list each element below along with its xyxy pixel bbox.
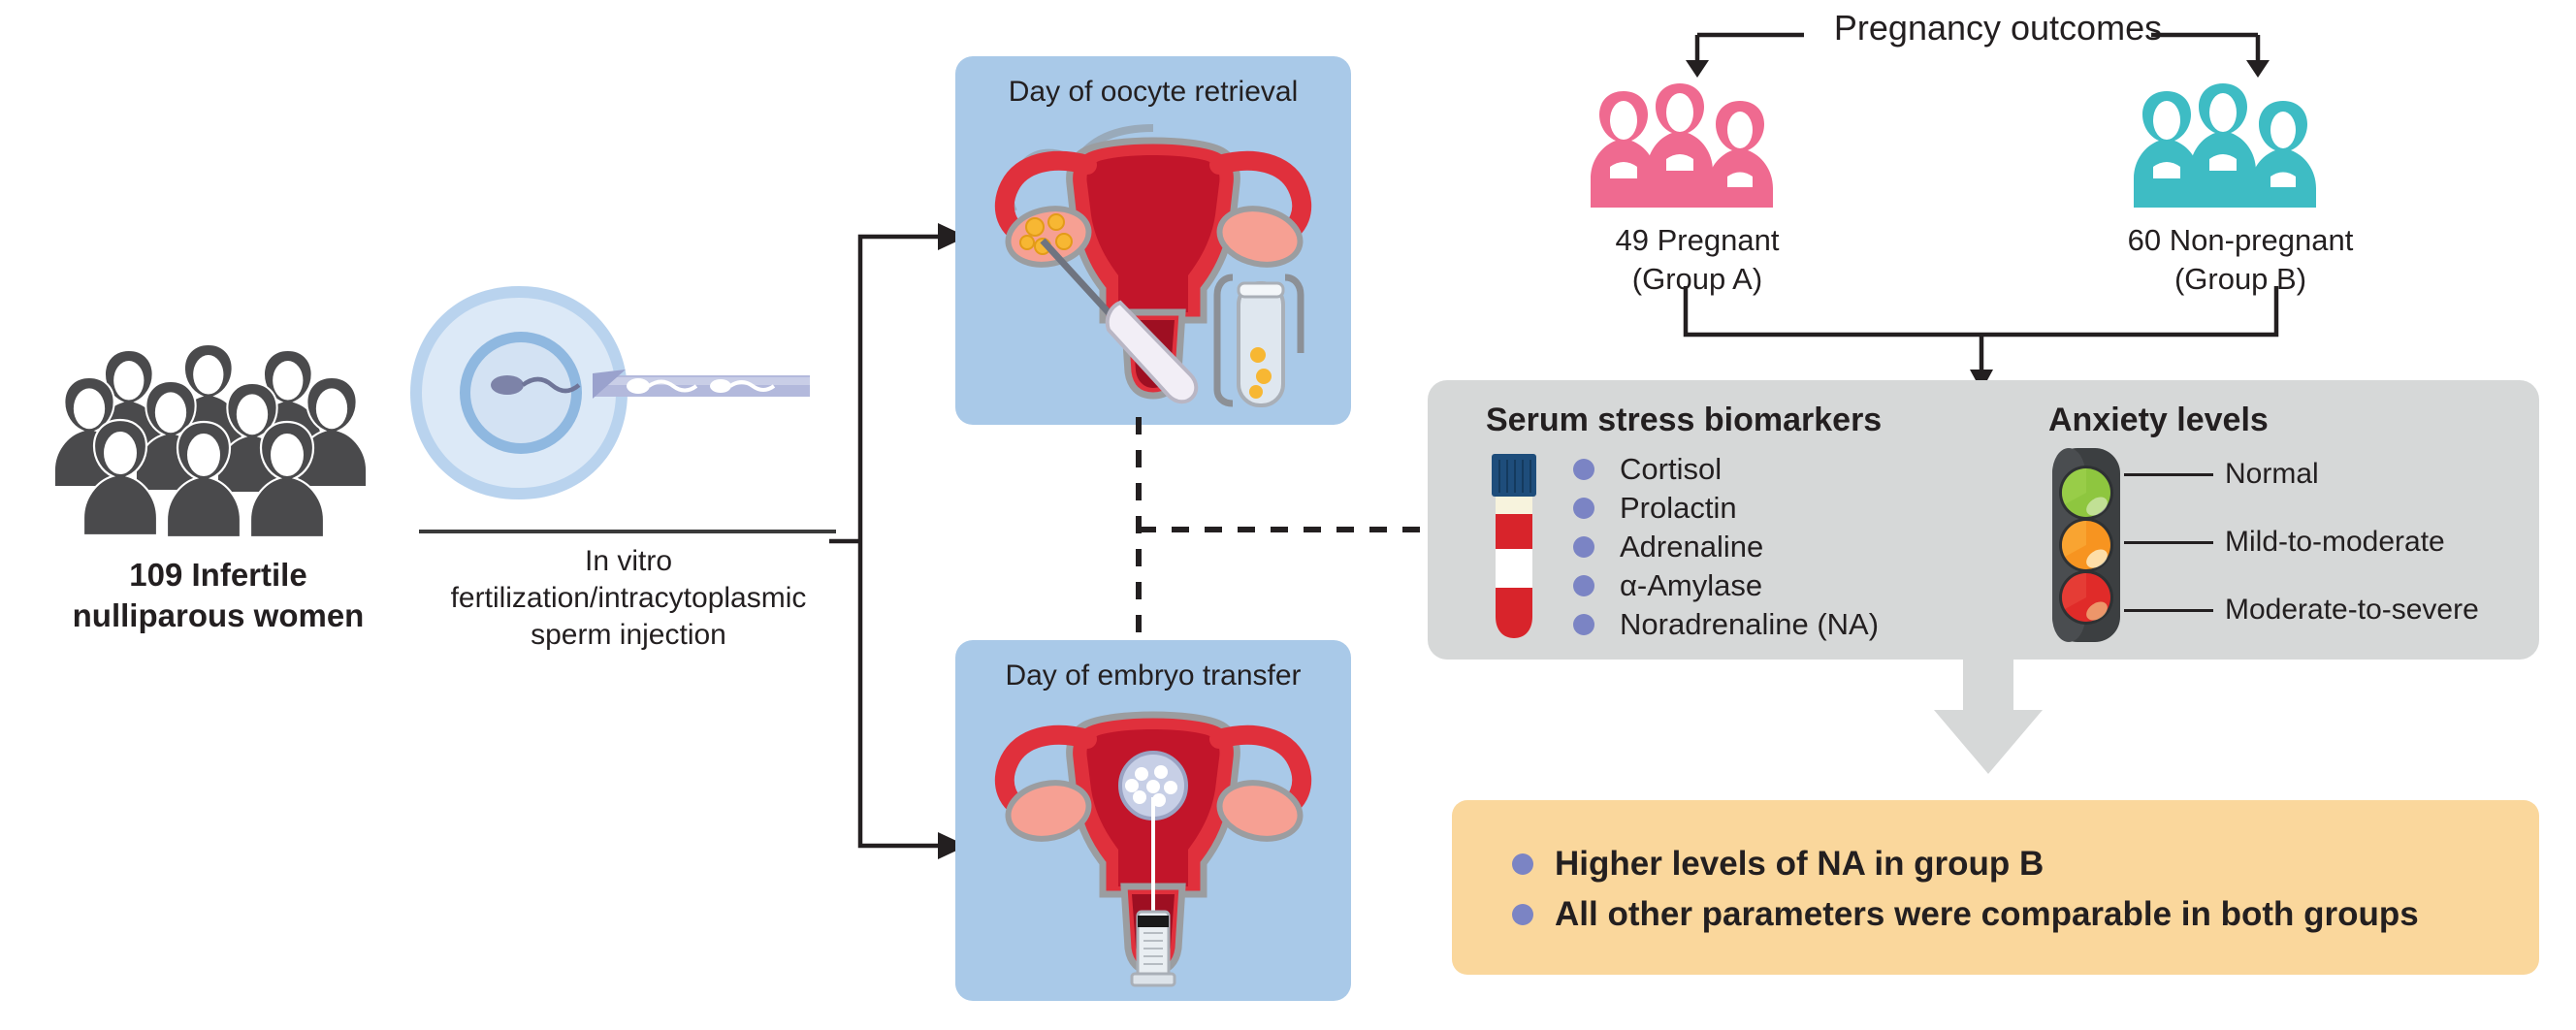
- bullet-dot-icon: [1573, 614, 1594, 635]
- measurements-panel: Serum stress biomarkers Cortisol: [1428, 380, 2539, 660]
- anxiety-label: Normal: [2225, 458, 2319, 491]
- bullet-dot-icon: [1573, 575, 1594, 596]
- group-a-line1: 49 Pregnant: [1552, 221, 1843, 260]
- bullet-dot-icon: [1512, 904, 1533, 925]
- groups-merge-arrow: [1547, 286, 2381, 393]
- ivf-icsi-label: In vitro fertilization/intracytoplasmic …: [405, 543, 852, 653]
- dashed-connector: [1106, 417, 1445, 650]
- panel-oocyte-title: Day of oocyte retrieval: [955, 76, 1351, 109]
- list-item: Prolactin: [1573, 489, 2000, 528]
- panel-oocyte-retrieval: Day of oocyte retrieval: [955, 56, 1351, 425]
- biomarker-label: Prolactin: [1620, 491, 1737, 526]
- results-down-arrow-icon: [1930, 652, 2046, 776]
- bullet-dot-icon: [1573, 536, 1594, 558]
- biomarkers-heading: Serum stress biomarkers: [1486, 402, 1882, 439]
- biomarker-label: Noradrenaline (NA): [1620, 607, 1879, 642]
- ivf-label-line1: In vitro: [405, 543, 852, 580]
- conclusion-text: Higher levels of NA in group B: [1555, 845, 2044, 884]
- biomarker-label: α-Amylase: [1620, 568, 1762, 603]
- bullet-dot-icon: [1573, 498, 1594, 519]
- biomarkers-list: Cortisol Prolactin Adrenaline α-Amylase …: [1573, 450, 2000, 644]
- ivf-baseline-rule: [419, 530, 836, 533]
- uterus-embryo-transfer-icon: [979, 700, 1328, 991]
- bullet-dot-icon: [1573, 459, 1594, 480]
- panel-embryo-title: Day of embryo transfer: [955, 660, 1351, 692]
- anxiety-heading: Anxiety levels: [2048, 402, 2269, 439]
- list-item: Mild-to-moderate: [2124, 520, 2541, 564]
- panel-embryo-transfer: Day of embryo transfer: [955, 640, 1351, 1001]
- conclusion-list: Higher levels of NA in group B All other…: [1512, 839, 2520, 940]
- ivf-label-line3: sperm injection: [405, 617, 852, 654]
- pregnancy-outcomes-arrows: [1639, 14, 2318, 78]
- list-item: All other parameters were comparable in …: [1512, 889, 2520, 940]
- list-item: Moderate-to-severe: [2124, 588, 2541, 632]
- group-b-line1: 60 Non-pregnant: [2095, 221, 2386, 260]
- leader-line: [2124, 541, 2213, 544]
- leader-line: [2124, 609, 2213, 612]
- leader-line: [2124, 473, 2213, 476]
- list-item: Higher levels of NA in group B: [1512, 839, 2520, 889]
- figure-canvas: 109 Infertile nulliparous women: [0, 0, 2576, 1030]
- conclusion-panel: Higher levels of NA in group B All other…: [1452, 800, 2539, 975]
- anxiety-label: Moderate-to-severe: [2225, 594, 2479, 627]
- group-of-women-icon: [37, 344, 396, 553]
- list-item: Cortisol: [1573, 450, 2000, 489]
- biomarker-label: Cortisol: [1620, 452, 1722, 487]
- uterus-oocyte-aspiration-icon: [979, 113, 1328, 413]
- list-item: Normal: [2124, 452, 2541, 497]
- women-group-pink-icon: [1581, 83, 1814, 209]
- icsi-sperm-injection-icon: [402, 276, 810, 509]
- biomarker-label: Adrenaline: [1620, 530, 1763, 564]
- cohort-label: 109 Infertile nulliparous women: [10, 555, 427, 636]
- list-item: Adrenaline: [1573, 528, 2000, 566]
- cohort-label-line2: nulliparous women: [10, 595, 427, 636]
- anxiety-label: Mild-to-moderate: [2225, 526, 2445, 559]
- ivf-label-line2: fertilization/intracytoplasmic: [405, 580, 852, 617]
- list-item: α-Amylase: [1573, 566, 2000, 605]
- bullet-dot-icon: [1512, 853, 1533, 875]
- conclusion-text: All other parameters were comparable in …: [1555, 895, 2419, 934]
- cohort-label-line1: 109 Infertile: [10, 555, 427, 595]
- list-item: Noradrenaline (NA): [1573, 605, 2000, 644]
- blood-collection-tube-icon: [1484, 454, 1544, 638]
- traffic-light-icon: [2048, 448, 2124, 642]
- anxiety-legend: Normal Mild-to-moderate Moderate-to-seve…: [2124, 446, 2541, 632]
- women-group-teal-icon: [2124, 83, 2357, 209]
